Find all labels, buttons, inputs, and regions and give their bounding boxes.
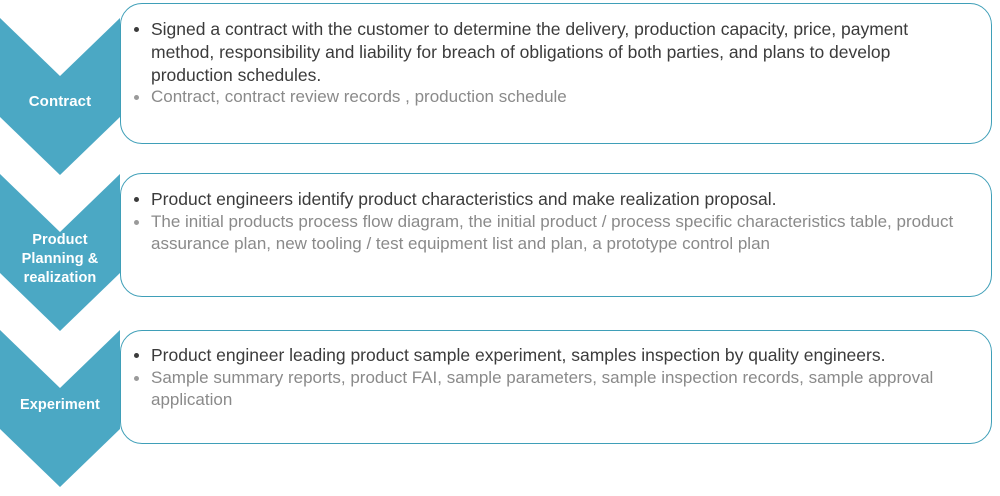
- chevron-arrow-icon: [0, 330, 120, 487]
- chevron-shape-contract: [0, 18, 120, 175]
- bullet-text: Sample summary reports, product FAI, sam…: [151, 368, 933, 409]
- bullet-text: Signed a contract with the customer to d…: [151, 19, 908, 85]
- bullet-text: Product engineer leading product sample …: [151, 345, 885, 365]
- process-stage-product-planning-realization: Product Planning & realization Product e…: [0, 170, 1000, 330]
- stage-card-contract: Signed a contract with the customer to d…: [120, 3, 992, 144]
- list-item: Product engineers identify product chara…: [125, 188, 971, 211]
- bullet-text: Contract, contract review records , prod…: [151, 87, 567, 106]
- chevron-shape-product-planning-realization: [0, 174, 120, 331]
- bullet-dot-icon: [134, 27, 139, 32]
- chevron-arrow-icon: [0, 174, 120, 331]
- process-stage-contract: Contract Signed a contract with the cust…: [0, 0, 1000, 176]
- list-item: The initial products process flow diagra…: [125, 211, 971, 255]
- stage-card-product-planning-realization: Product engineers identify product chara…: [120, 173, 992, 297]
- bullet-dot-icon: [134, 353, 139, 358]
- bullet-list: Signed a contract with the customer to d…: [125, 18, 971, 108]
- chevron-shape-experiment: [0, 330, 120, 487]
- list-item: Sample summary reports, product FAI, sam…: [125, 367, 971, 411]
- list-item: Signed a contract with the customer to d…: [125, 18, 971, 86]
- bullet-dot-icon: [134, 220, 139, 225]
- bullet-dot-icon: [134, 376, 139, 381]
- process-flow-diagram: Contract Signed a contract with the cust…: [0, 0, 1000, 496]
- bullet-text: The initial products process flow diagra…: [151, 212, 953, 253]
- bullet-dot-icon: [134, 95, 139, 100]
- bullet-text: Product engineers identify product chara…: [151, 189, 776, 209]
- chevron-arrow-icon: [0, 18, 120, 175]
- list-item: Contract, contract review records , prod…: [125, 86, 971, 108]
- bullet-list: Product engineer leading product sample …: [125, 344, 971, 411]
- list-item: Product engineer leading product sample …: [125, 344, 971, 367]
- stage-card-experiment: Product engineer leading product sample …: [120, 330, 992, 444]
- process-stage-experiment: Experiment Product engineer leading prod…: [0, 326, 1000, 496]
- bullet-list: Product engineers identify product chara…: [125, 188, 971, 255]
- bullet-dot-icon: [134, 197, 139, 202]
